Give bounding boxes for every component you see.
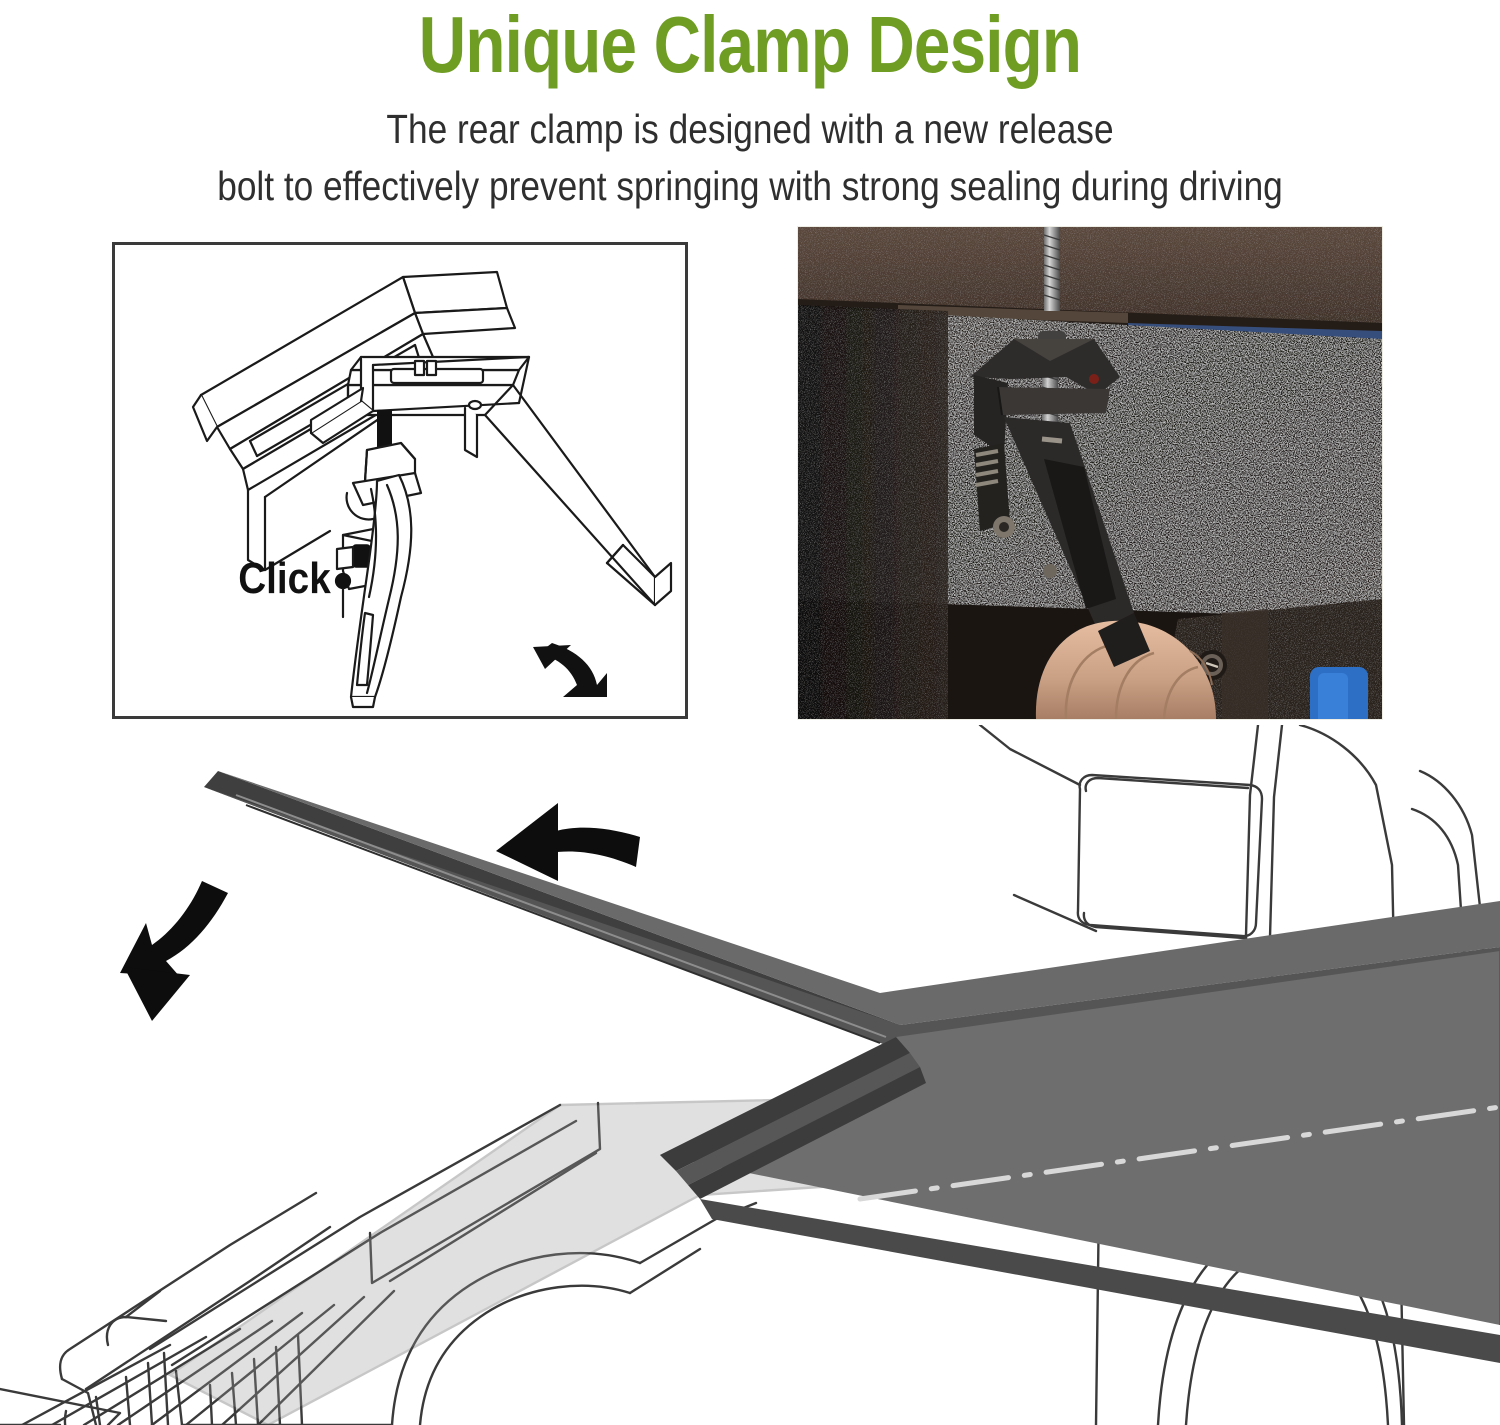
subtitle-line-2: bolt to effectively prevent springing wi… [105,163,1395,209]
click-callout-label: Click [238,553,331,603]
clamp-photo-panel [798,227,1382,719]
truck-illustration-svg [0,725,1500,1425]
page-title: Unique Clamp Design [135,2,1365,88]
clamp-photo-svg [798,227,1382,719]
clamp-diagram-panel: Click [112,242,688,719]
truck-illustration [0,725,1500,1425]
header: Unique Clamp Design The rear clamp is de… [0,0,1500,225]
subtitle-line-1: The rear clamp is designed with a new re… [105,106,1395,152]
infographic-page: Unique Clamp Design The rear clamp is de… [0,0,1500,1425]
clamp-diagram-svg: Click [115,245,685,716]
rotate-arrow-icon [533,643,607,697]
